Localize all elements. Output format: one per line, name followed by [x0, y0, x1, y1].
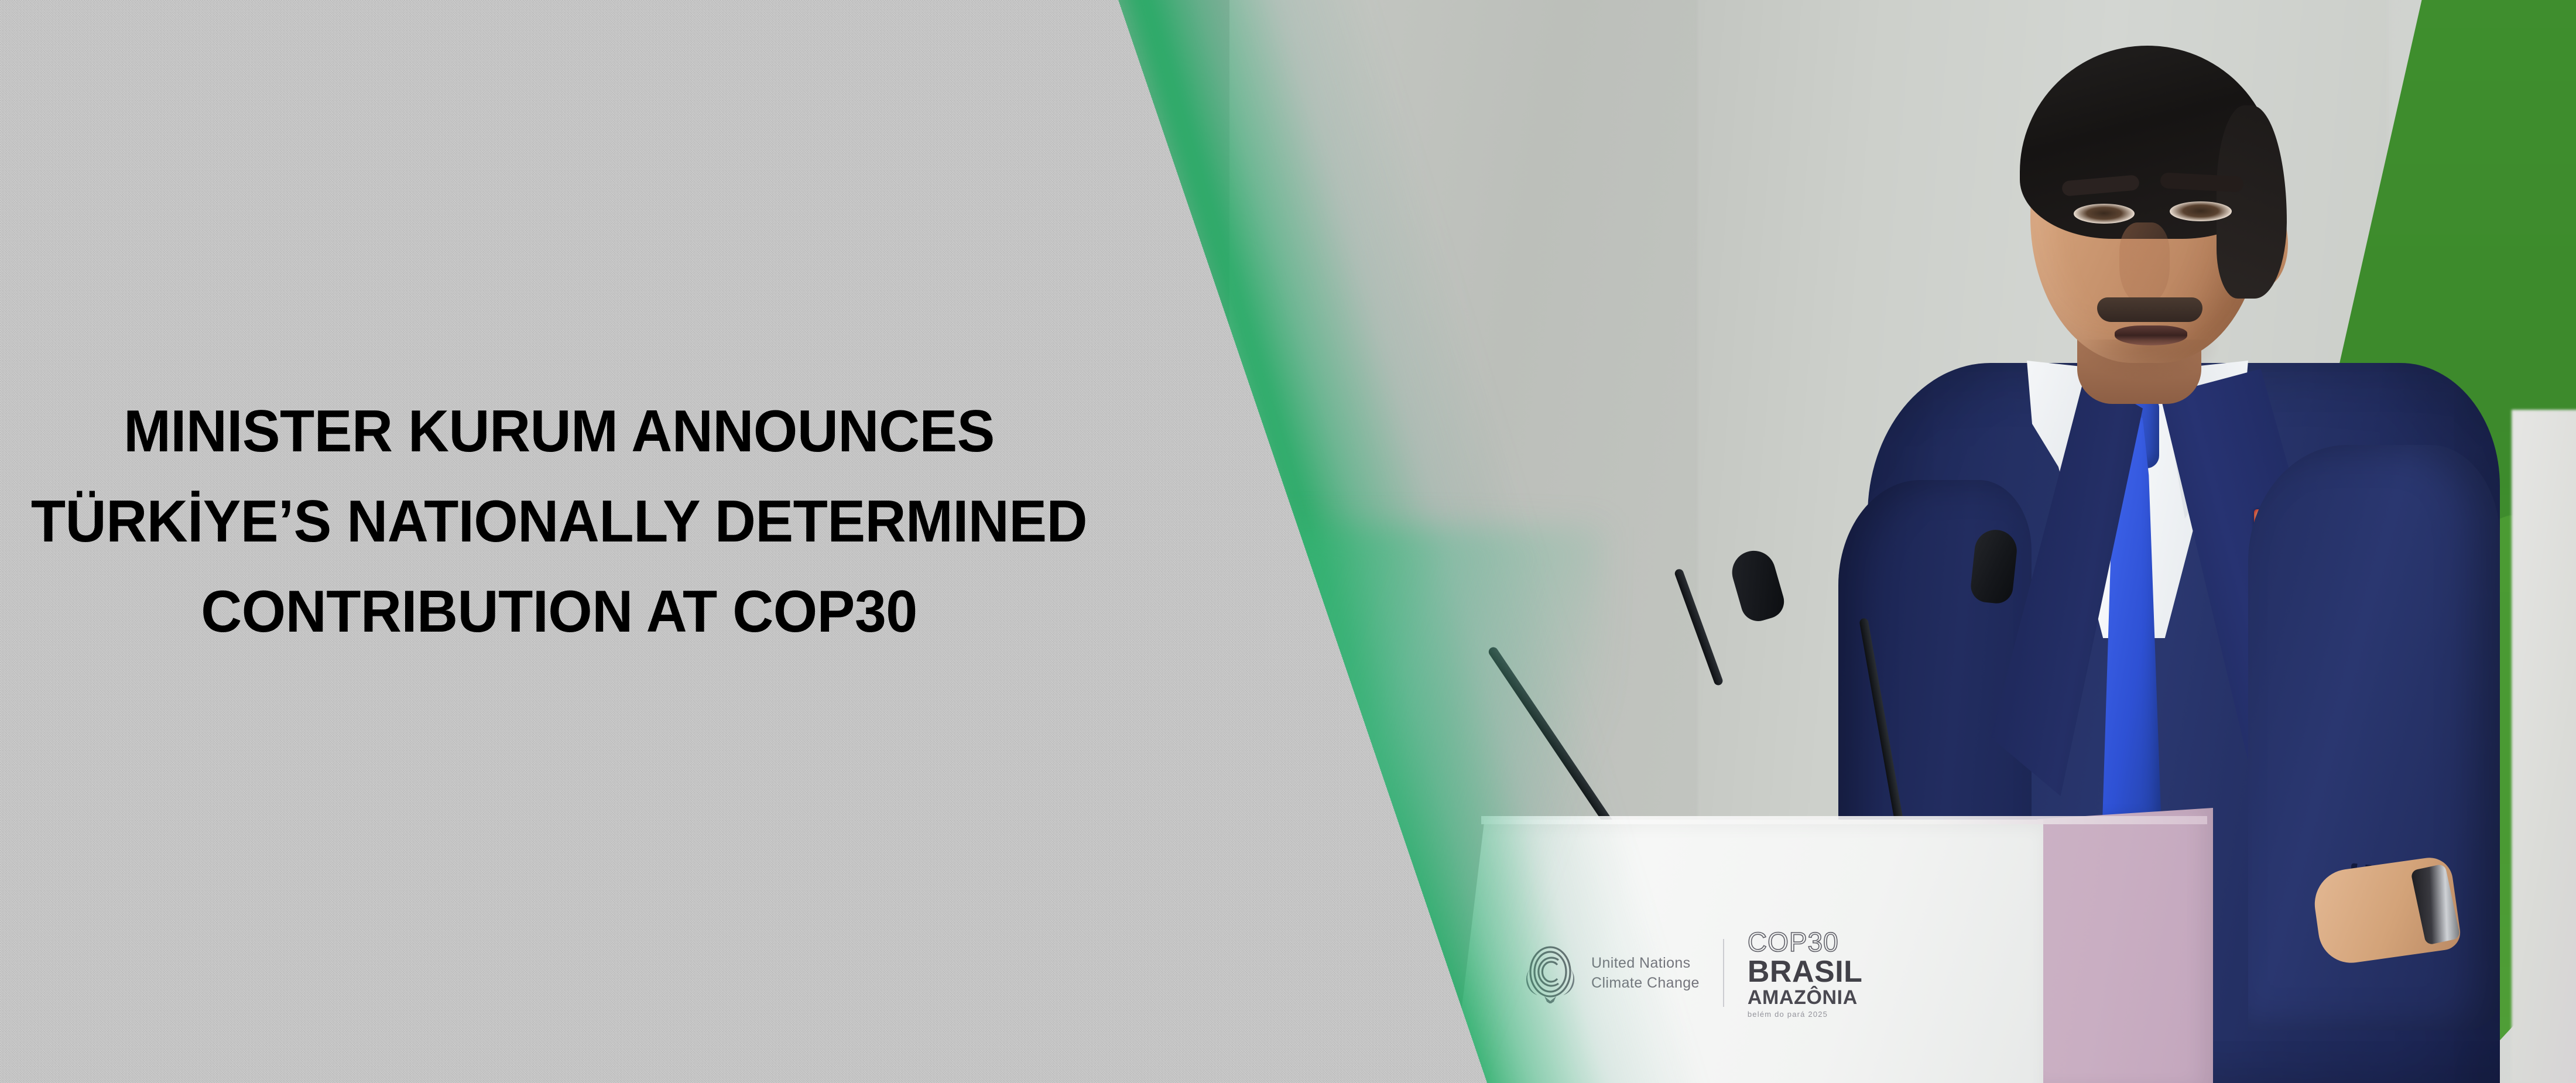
eye-right [2170, 201, 2232, 221]
nose [2119, 222, 2170, 304]
banner-stage: United Nations Climate Change COP30 BRAS… [0, 0, 2576, 1083]
eye-left [2074, 204, 2135, 224]
hair-side [2217, 105, 2287, 299]
podium-side-panel [2037, 808, 2213, 1083]
headline-line-3: CONTRIBUTION AT COP30 [22, 567, 1096, 657]
headline-line-2: TÜRKİYE’S NATIONALLY DETERMINED [22, 477, 1096, 567]
page-title: MINISTER KURUM ANNOUNCES TÜRKİYE’S NATIO… [22, 386, 1096, 657]
mustache [2097, 297, 2202, 322]
right-wall-ledge [2512, 410, 2576, 1083]
chin-shadow [2078, 340, 2219, 381]
headline-line-1: MINISTER KURUM ANNOUNCES [22, 386, 1096, 477]
